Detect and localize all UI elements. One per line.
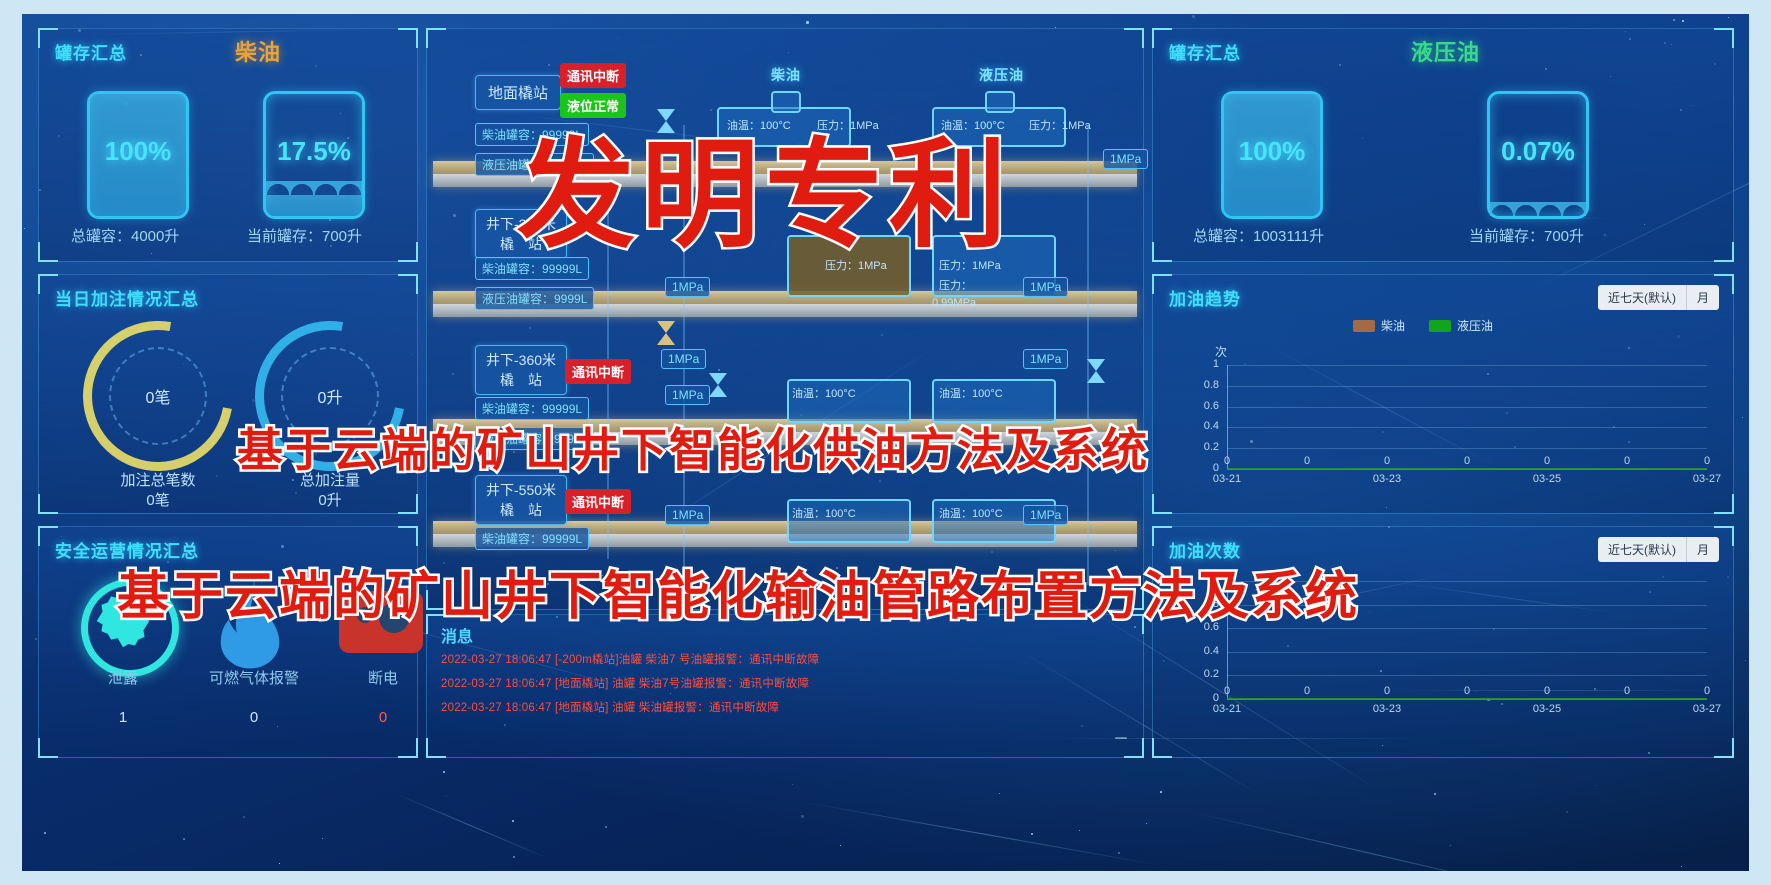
chart-y-axis [1227, 365, 1228, 469]
right-total-capacity-label: 总罐容：1003111升 [1193, 225, 1324, 246]
reading-row4-0: 油温：100°C [792, 505, 856, 521]
message-row-2[interactable]: 2022-03-27 18:06:47 [地面橇站] 油罐 柴油罐报警：通讯中断… [441, 699, 779, 715]
pressure-tag-7: 1MPa [665, 505, 710, 525]
pressure-tag-3: 1MPa [661, 349, 706, 369]
pressure-tag-5: 1MPa [665, 385, 710, 405]
reading-row2-2: 压力： [939, 277, 972, 293]
reading-row4-1: 油温：100°C [939, 505, 1003, 521]
chart-point-label: 0 [1207, 685, 1247, 697]
message-row-1[interactable]: 2022-03-27 18:06:47 [地面橇站] 油罐 柴油7号油罐报警：通… [441, 675, 809, 691]
reading-row3-0: 油温：100°C [792, 385, 856, 401]
safety-item-value-1: 0 [184, 709, 324, 726]
chart-x-axis [1227, 469, 1707, 470]
chart-point-label: 0 [1687, 685, 1727, 697]
refuel-volume-label-line2: 0升 [250, 491, 410, 511]
chart-x-tick: 03-21 [1207, 703, 1247, 715]
chart-x-tick: 03-23 [1367, 703, 1407, 715]
safety-item-value-2: 0 [323, 709, 443, 726]
chart-y-tick: 0.2 [1193, 668, 1219, 680]
watermark-patent: 发明专利 [517, 99, 1013, 270]
chart-y-tick: 0.6 [1193, 400, 1219, 412]
pressure-tag-1: 1MPa [665, 277, 710, 297]
chart-x-tick: 03-27 [1687, 703, 1727, 715]
chart-point-label: 0 [1367, 685, 1407, 697]
legend-label-diesel: 柴油 [1381, 317, 1405, 334]
chart-x-tick: 03-23 [1367, 473, 1407, 485]
count-range-week-button[interactable]: 近七天(默认) [1598, 537, 1687, 562]
safety-item-label-2: 断电 [323, 667, 443, 688]
station-2-name[interactable]: 井下-360米 橇 站 [475, 345, 567, 395]
safety-item-value-0: 1 [63, 709, 183, 726]
refuel-count-label-line1: 加注总笔数 [78, 471, 238, 491]
right-total-tank-gauge: 100% [1221, 91, 1323, 219]
chart-point-label: 0 [1447, 685, 1487, 697]
legend-swatch-diesel [1353, 320, 1375, 332]
right-total-tank-percent: 100% [1224, 136, 1320, 167]
chart-y-tick: 1 [1193, 358, 1219, 370]
left-tank-summary-panel: 罐存汇总 柴油 100% 17.5% 总罐容：4000升 当前罐存：700升 [38, 28, 418, 262]
safety-item-label-1: 可燃气体报警 [184, 667, 324, 688]
pressure-tag-6: 1MPa [1023, 505, 1068, 525]
legend-label-hydraulic: 液压油 [1457, 317, 1493, 334]
right-current-tank-gauge: 0.07% [1487, 91, 1589, 219]
chart-point-label: 0 [1287, 685, 1327, 697]
chart-gridline [1227, 675, 1707, 676]
left-total-tank-percent: 100% [90, 136, 186, 167]
chart-point-label: 0 [1607, 455, 1647, 467]
left-current-tank-gauge: 17.5% [263, 91, 365, 219]
daily-refuel-panel-title: 当日加注情况汇总 [55, 285, 199, 310]
chart-y-tick: 0.4 [1193, 645, 1219, 657]
chart-gridline [1227, 365, 1707, 366]
left-tank-panel-title: 罐存汇总 [55, 39, 127, 64]
watermark-line1: 基于云端的矿山井下智能化供油方法及系统 [237, 414, 1149, 480]
refuel-count-label: 加注总笔数 0笔 [78, 471, 238, 511]
section-label-hydraulic: 液压油 [979, 65, 1024, 85]
count-range-toggle[interactable]: 近七天(默认) 月 [1598, 537, 1719, 562]
station-1-tag-1: 液压油罐容：9999L [475, 287, 594, 310]
station-3-tag-0: 柴油罐容：99999L [475, 527, 589, 550]
message-panel: 消息 2022-03-27 18:06:47 [-200m橇站]油罐 柴油7 号… [426, 614, 1144, 758]
refuel-trend-panel: 加油趋势 近七天(默认) 月 柴油 液压油 次 00.20.40.60.8100… [1152, 274, 1734, 514]
left-current-stock-label: 当前罐存：700升 [247, 225, 362, 246]
watermark-line2: 基于云端的矿山井下智能化输油管路布置方法及系统 [117, 554, 1359, 629]
trend-chart-plot: 00.20.40.60.81003-210003-230003-250003-2… [1193, 359, 1717, 491]
pressure-tag-0: 1MPa [1103, 149, 1148, 169]
station-2-badge-0: 通讯中断 [565, 359, 631, 384]
chart-point-label: 0 [1207, 455, 1247, 467]
station-3-name-line1: 井下-550米 [486, 480, 556, 500]
chart-x-tick: 03-25 [1527, 703, 1567, 715]
zoom-out-button[interactable]: － [1113, 725, 1129, 749]
right-tank-panel-subtitle: 液压油 [1411, 35, 1480, 67]
refuel-count-label-line2: 0笔 [78, 491, 238, 511]
chart-y-tick: 0.2 [1193, 441, 1219, 453]
legend-swatch-hydraulic [1429, 320, 1451, 332]
chart-gridline [1227, 386, 1707, 387]
left-total-capacity-label: 总罐容：4000升 [71, 225, 179, 246]
trend-range-week-button[interactable]: 近七天(默认) [1598, 285, 1687, 310]
left-total-tank-gauge: 100% [87, 91, 189, 219]
count-range-month-button[interactable]: 月 [1687, 537, 1719, 562]
station-2-name-line1: 井下-360米 [486, 350, 556, 370]
dashboard-screen: 罐存汇总 柴油 100% 17.5% 总罐容：4000升 当前罐存：700升 当… [22, 14, 1749, 871]
message-row-0[interactable]: 2022-03-27 18:06:47 [-200m橇站]油罐 柴油7 号油罐报… [441, 651, 819, 667]
refuel-count-value: 0笔 [83, 321, 233, 471]
chart-x-tick: 03-27 [1687, 473, 1727, 485]
chart-y-tick: 0.8 [1193, 379, 1219, 391]
chart-point-label: 0 [1447, 455, 1487, 467]
right-tank-summary-panel: 罐存汇总 液压油 100% 0.07% 总罐容：1003111升 当前罐存：70… [1152, 28, 1734, 262]
chart-x-tick: 03-25 [1527, 473, 1567, 485]
station-3-name-line2: 橇 站 [486, 500, 556, 520]
trend-range-toggle[interactable]: 近七天(默认) 月 [1598, 285, 1719, 310]
chart-point-label: 0 [1527, 455, 1567, 467]
chart-gridline [1227, 407, 1707, 408]
refuel-count-gauge: 0笔 [83, 321, 233, 471]
chart-x-tick: 03-21 [1207, 473, 1247, 485]
chart-gridline [1227, 448, 1707, 449]
chart-gridline [1227, 652, 1707, 653]
station-3-badge-0: 通讯中断 [565, 489, 631, 514]
reading-3: 压力：1MPa [1029, 117, 1091, 133]
reading-row3-1: 油温：100°C [939, 385, 1003, 401]
chart-x-axis [1227, 699, 1707, 700]
trend-panel-title: 加油趋势 [1169, 285, 1241, 310]
pressure-tag-2: 1MPa [1023, 277, 1068, 297]
right-current-stock-label: 当前罐存：700升 [1469, 225, 1584, 246]
trend-range-month-button[interactable]: 月 [1687, 285, 1719, 310]
trend-legend: 柴油 液压油 [1353, 317, 1493, 334]
left-tank-panel-subtitle: 柴油 [235, 35, 281, 67]
left-current-tank-percent: 17.5% [266, 136, 362, 167]
safety-item-label-0: 泄露 [63, 667, 183, 688]
chart-point-label: 0 [1687, 455, 1727, 467]
station-3-name[interactable]: 井下-550米 橇 站 [475, 475, 567, 525]
station-0-badge-0: 通讯中断 [560, 63, 626, 88]
chart-gridline [1227, 427, 1707, 428]
pressure-tag-4: 1MPa [1023, 349, 1068, 369]
right-current-tank-percent: 0.07% [1490, 136, 1586, 167]
right-tank-panel-title: 罐存汇总 [1169, 39, 1241, 64]
chart-point-label: 0 [1607, 685, 1647, 697]
chart-point-label: 0 [1287, 455, 1327, 467]
section-label-diesel: 柴油 [771, 65, 801, 85]
chart-y-tick: 0.4 [1193, 420, 1219, 432]
station-2-name-line2: 橇 站 [486, 370, 556, 390]
reading-row2-3: 0.99MPa [932, 297, 976, 309]
chart-point-label: 0 [1367, 455, 1407, 467]
chart-point-label: 0 [1527, 685, 1567, 697]
